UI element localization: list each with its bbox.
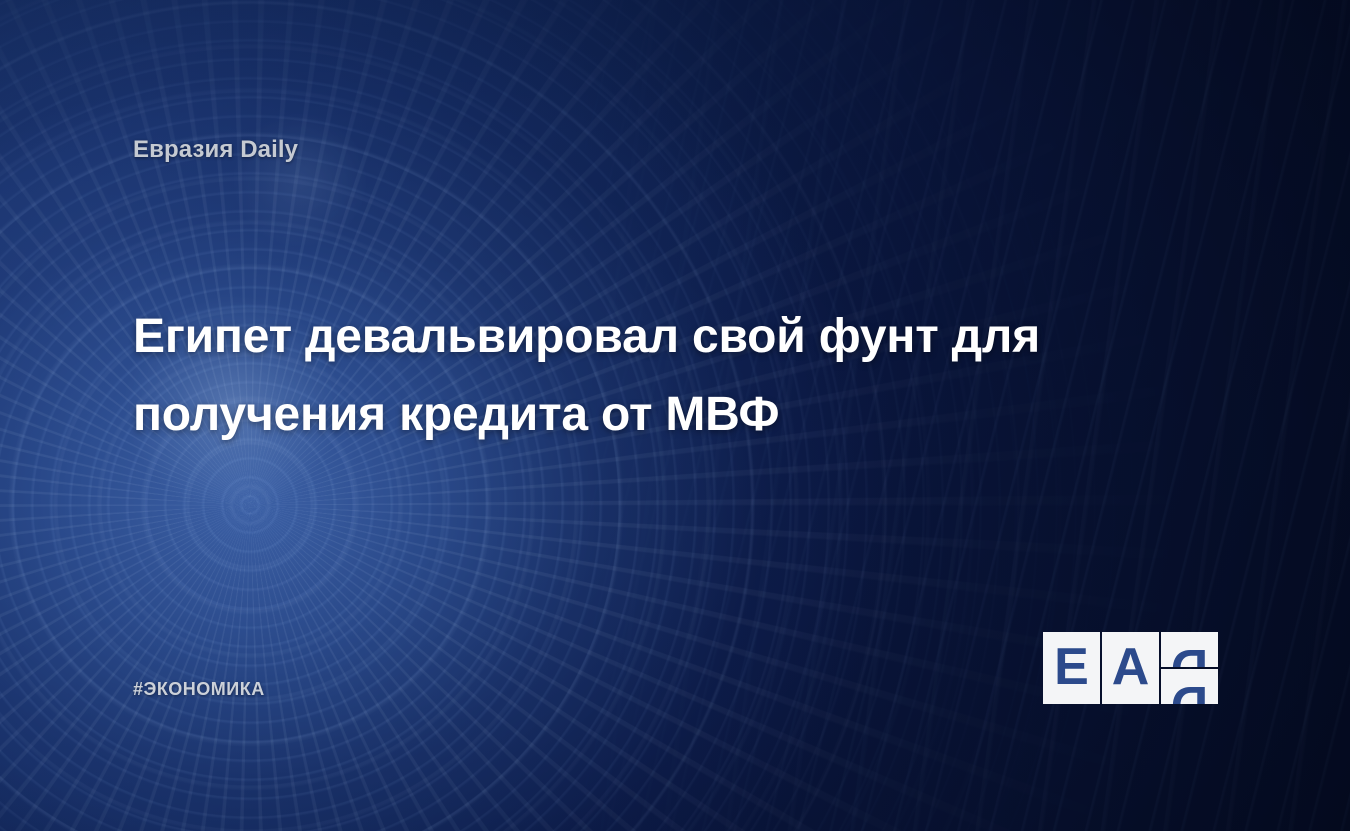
- brand-wordmark: Евразия Daily: [133, 136, 298, 164]
- logo-letter-d-rotated-top: D: [1161, 632, 1218, 667]
- logo-letter-e: E: [1043, 632, 1100, 704]
- news-card: Евразия Daily Египет девальвировал свой …: [0, 0, 1350, 831]
- ead-logo: E A D D: [1043, 632, 1220, 704]
- headline-line-2: получения кредита от МВФ: [133, 376, 1193, 454]
- headline-line-1: Египет девальвировал свой фунт для: [133, 298, 1193, 376]
- page-title: Египет девальвировал свой фунт для получ…: [133, 298, 1193, 454]
- logo-letter-a: A: [1102, 632, 1159, 704]
- category-tag[interactable]: #ЭКОНОМИКА: [133, 679, 265, 700]
- logo-tile-a: A: [1102, 632, 1159, 704]
- logo-letter-d-rotated-bottom: D: [1161, 669, 1218, 704]
- logo-tile-d-top-half: D: [1161, 632, 1218, 667]
- card-content: Евразия Daily Египет девальвировал свой …: [0, 0, 1350, 831]
- logo-tile-d-bottom-half: D: [1161, 669, 1218, 704]
- logo-tile-e: E: [1043, 632, 1100, 704]
- logo-tile-d: D D: [1161, 632, 1218, 704]
